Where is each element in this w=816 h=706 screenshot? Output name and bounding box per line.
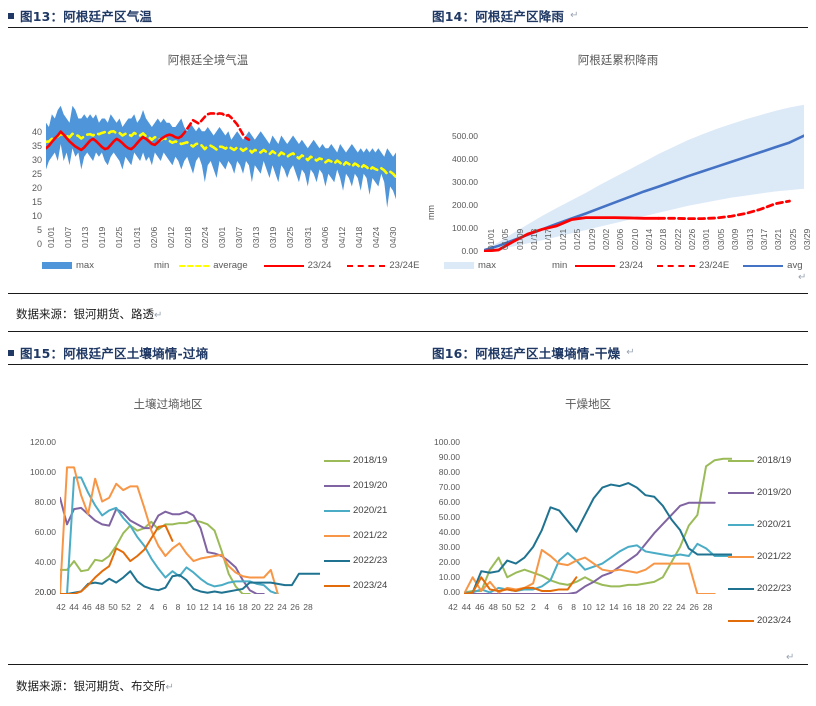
x-tick: 02/02 bbox=[601, 229, 611, 250]
x-tick: 03/19 bbox=[268, 227, 278, 248]
x-tick: 2 bbox=[132, 602, 146, 612]
x-tick: 01/19 bbox=[97, 227, 107, 248]
legend-item-2021: 2021/22 bbox=[728, 551, 791, 562]
legend-label: 2021/22 bbox=[353, 530, 387, 541]
y-tick: 25 bbox=[16, 170, 42, 179]
legend-swatch-2324e-icon bbox=[657, 265, 695, 267]
legend-label: 2022/23 bbox=[353, 555, 387, 566]
x-tick: 03/07 bbox=[234, 227, 244, 248]
x-tick: 03/09 bbox=[730, 229, 740, 250]
legend-swatch-max-icon bbox=[42, 262, 72, 269]
y-tick: 0.00 bbox=[412, 588, 460, 597]
x-tick: 6 bbox=[553, 602, 567, 612]
legend-label: 23/24 bbox=[308, 260, 332, 271]
legend-swatch-average-icon bbox=[179, 265, 209, 267]
y-tick: 0.00 bbox=[434, 247, 478, 256]
x-tick: 03/13 bbox=[251, 227, 261, 248]
legend-item-2018: 2018/19 bbox=[728, 455, 791, 466]
y-tick: 20.00 bbox=[412, 558, 460, 567]
x-tick: 52 bbox=[119, 602, 133, 612]
x-tick: 22 bbox=[660, 602, 674, 612]
x-tick: 18 bbox=[236, 602, 250, 612]
legend-item-max: max bbox=[42, 260, 94, 271]
section-header-fig14: 图14：阿根廷产区降雨 ↵ bbox=[432, 6, 579, 25]
legend-label: avg bbox=[787, 260, 802, 271]
legend-swatch-2022-icon bbox=[324, 560, 350, 562]
fig13-plot-area bbox=[46, 76, 396, 246]
report-page: 图13：阿根廷产区气温 图14：阿根廷产区降雨 ↵ 阿根廷全境气温 40 35 … bbox=[0, 0, 816, 706]
legend-label: max bbox=[76, 260, 94, 271]
legend-label: 2023/24 bbox=[757, 615, 791, 626]
x-tick: 03/05 bbox=[716, 229, 726, 250]
legend-swatch-2324e-icon bbox=[347, 265, 385, 267]
legend-swatch-2324-icon bbox=[575, 265, 615, 267]
x-tick: 01/01 bbox=[486, 229, 496, 250]
x-tick: 02/22 bbox=[673, 229, 683, 250]
legend-item-2324: 23/24 bbox=[575, 260, 643, 271]
legend-item-2022: 2022/23 bbox=[728, 583, 791, 594]
fig15-title: 图15：阿根廷产区土壤墒情-过墒 bbox=[20, 343, 208, 362]
x-tick: 02/06 bbox=[149, 227, 159, 248]
paragraph-mark: ↵ bbox=[786, 652, 794, 663]
x-tick: 24 bbox=[674, 602, 688, 612]
y-tick: 70.00 bbox=[412, 483, 460, 492]
x-tick: 4 bbox=[540, 602, 554, 612]
legend-item-2023: 2023/24 bbox=[728, 615, 791, 626]
legend-item-2018: 2018/19 bbox=[324, 455, 387, 466]
legend-item-avg: avg bbox=[743, 260, 802, 271]
legend-label: 2018/19 bbox=[353, 455, 387, 466]
bullet-icon bbox=[8, 13, 14, 19]
y-tick: 500.00 bbox=[434, 132, 478, 141]
x-tick: 2 bbox=[526, 602, 540, 612]
legend-item-2324e: 23/24E bbox=[347, 260, 419, 271]
legend-label: 2022/23 bbox=[757, 583, 791, 594]
x-tick: 04/18 bbox=[354, 227, 364, 248]
x-tick: 03/17 bbox=[759, 229, 769, 250]
legend-item-2021: 2021/22 bbox=[324, 530, 387, 541]
x-tick: 01/31 bbox=[132, 227, 142, 248]
x-tick: 52 bbox=[513, 602, 527, 612]
x-tick: 02/24 bbox=[200, 227, 210, 248]
fig15-svg bbox=[60, 442, 320, 594]
y-tick: 35 bbox=[16, 142, 42, 151]
y-tick: 80.00 bbox=[8, 498, 56, 507]
section-header-fig16: 图16：阿根廷产区土壤墒情-干燥 ↵ bbox=[432, 343, 635, 362]
y-tick: 20 bbox=[16, 184, 42, 193]
x-tick: 02/18 bbox=[183, 227, 193, 248]
legend-swatch-max-icon bbox=[444, 262, 474, 269]
legend-swatch-2022-icon bbox=[728, 588, 754, 590]
legend-label: 23/24E bbox=[389, 260, 419, 271]
legend-item-2019: 2019/20 bbox=[728, 487, 791, 498]
x-tick: 12 bbox=[593, 602, 607, 612]
legend-swatch-avg-icon bbox=[743, 265, 783, 267]
y-tick: 80.00 bbox=[412, 468, 460, 477]
x-tick: 02/18 bbox=[658, 229, 668, 250]
x-tick: 20 bbox=[249, 602, 263, 612]
x-tick: 01/13 bbox=[529, 229, 539, 250]
x-tick: 01/17 bbox=[543, 229, 553, 250]
legend-item-2020: 2020/21 bbox=[728, 519, 791, 530]
y-tick: 0 bbox=[16, 240, 42, 249]
y-tick: 90.00 bbox=[412, 453, 460, 462]
legend-item-min: min bbox=[154, 260, 169, 271]
divider-top bbox=[8, 27, 808, 28]
x-tick: 42 bbox=[54, 602, 68, 612]
x-tick: 01/01 bbox=[46, 227, 56, 248]
y-tick: 0.00 bbox=[8, 588, 56, 597]
x-tick: 12 bbox=[197, 602, 211, 612]
x-tick: 01/05 bbox=[500, 229, 510, 250]
x-tick: 02/06 bbox=[615, 229, 625, 250]
legend-item-2020: 2020/21 bbox=[324, 505, 387, 516]
y-tick: 40 bbox=[16, 128, 42, 137]
x-tick: 46 bbox=[473, 602, 487, 612]
x-tick: 03/25 bbox=[285, 227, 295, 248]
x-tick: 18 bbox=[634, 602, 648, 612]
y-tick: 30 bbox=[16, 156, 42, 165]
x-tick: 24 bbox=[275, 602, 289, 612]
paragraph-mark: ↵ bbox=[154, 310, 162, 321]
fig15-chart-title: 土壤过墒地区 bbox=[0, 396, 368, 412]
legend-label: average bbox=[213, 260, 247, 271]
x-tick: 01/13 bbox=[80, 227, 90, 248]
x-tick: 03/01 bbox=[217, 227, 227, 248]
legend-label: 23/24E bbox=[699, 260, 729, 271]
divider-mid-top bbox=[8, 293, 808, 294]
fig13-legend: max min average 23/24 23/24E bbox=[42, 260, 420, 271]
y-tick: 10.00 bbox=[412, 573, 460, 582]
y-tick: 120.00 bbox=[8, 438, 56, 447]
x-tick: 03/13 bbox=[745, 229, 755, 250]
paragraph-mark: ↵ bbox=[166, 682, 174, 693]
x-tick: 10 bbox=[184, 602, 198, 612]
source-text: 数据来源：银河期货、路透 bbox=[16, 307, 154, 321]
y-tick: 30.00 bbox=[412, 543, 460, 552]
fig13-svg bbox=[46, 76, 396, 246]
x-tick: 03/29 bbox=[802, 229, 812, 250]
x-tick: 28 bbox=[701, 602, 715, 612]
y-tick: 60.00 bbox=[8, 528, 56, 537]
source-bottom: 数据来源：银河期货、布交所↵ bbox=[16, 678, 174, 694]
legend-label: 2019/20 bbox=[757, 487, 791, 498]
y-tick: 100.00 bbox=[434, 224, 478, 233]
legend-item-2324e: 23/24E bbox=[657, 260, 729, 271]
paragraph-mark: ↵ bbox=[570, 10, 578, 21]
legend-swatch-2019-icon bbox=[728, 492, 754, 494]
legend-label: min bbox=[552, 260, 567, 271]
legend-item-2023: 2023/24 bbox=[324, 580, 387, 591]
legend-label: 2018/19 bbox=[757, 455, 791, 466]
legend-swatch-2018-icon bbox=[324, 460, 350, 462]
fig14-title: 图14：阿根廷产区降雨 bbox=[432, 6, 564, 25]
x-tick: 14 bbox=[607, 602, 621, 612]
x-tick: 02/10 bbox=[630, 229, 640, 250]
source-text: 数据来源：银河期货、布交所 bbox=[16, 679, 166, 693]
legend-label: 2020/21 bbox=[757, 519, 791, 530]
legend-swatch-2021-icon bbox=[324, 535, 350, 537]
fig13-title: 图13：阿根廷产区气温 bbox=[20, 6, 152, 25]
x-tick: 6 bbox=[158, 602, 172, 612]
source-top: 数据来源：银河期货、路透↵ bbox=[16, 306, 162, 322]
divider-mid-bottom bbox=[8, 331, 808, 332]
x-tick: 50 bbox=[106, 602, 120, 612]
x-tick: 01/25 bbox=[114, 227, 124, 248]
x-tick: 04/24 bbox=[371, 227, 381, 248]
legend-swatch-2020-icon bbox=[324, 510, 350, 512]
x-tick: 26 bbox=[288, 602, 302, 612]
x-tick: 8 bbox=[171, 602, 185, 612]
x-tick: 04/30 bbox=[388, 227, 398, 248]
x-tick: 22 bbox=[262, 602, 276, 612]
legend-swatch-2023-icon bbox=[324, 585, 350, 587]
x-tick: 03/01 bbox=[701, 229, 711, 250]
fig16-chart-title: 干燥地区 bbox=[390, 396, 786, 412]
y-tick: 5 bbox=[16, 226, 42, 235]
section-header-fig13: 图13：阿根廷产区气温 bbox=[8, 6, 152, 25]
legend-item-2324: 23/24 bbox=[264, 260, 332, 271]
x-tick: 48 bbox=[486, 602, 500, 612]
fig14-plot-area bbox=[484, 80, 804, 252]
fig16-svg bbox=[464, 442, 732, 594]
x-tick: 01/25 bbox=[572, 229, 582, 250]
legend-swatch-2019-icon bbox=[324, 485, 350, 487]
divider-fig15 bbox=[8, 364, 808, 365]
x-tick: 10 bbox=[580, 602, 594, 612]
x-tick: 20 bbox=[647, 602, 661, 612]
fig14-legend: max min 23/24 23/24E avg bbox=[444, 260, 803, 271]
y-tick: 40.00 bbox=[8, 558, 56, 567]
y-tick: 40.00 bbox=[412, 528, 460, 537]
x-tick: 50 bbox=[500, 602, 514, 612]
y-tick: 100.00 bbox=[8, 468, 56, 477]
x-tick: 16 bbox=[620, 602, 634, 612]
legend-label: 2019/20 bbox=[353, 480, 387, 491]
legend-item-average: average bbox=[179, 260, 247, 271]
fig16-title: 图16：阿根廷产区土壤墒情-干燥 bbox=[432, 343, 620, 362]
x-tick: 03/21 bbox=[773, 229, 783, 250]
legend-label: 2021/22 bbox=[757, 551, 791, 562]
x-tick: 01/07 bbox=[63, 227, 73, 248]
x-tick: 42 bbox=[446, 602, 460, 612]
legend-swatch-2021-icon bbox=[728, 556, 754, 558]
y-tick: 300.00 bbox=[434, 178, 478, 187]
paragraph-mark: ↵ bbox=[626, 347, 634, 358]
y-tick: 400.00 bbox=[434, 155, 478, 164]
x-tick: 01/29 bbox=[587, 229, 597, 250]
x-tick: 02/12 bbox=[166, 227, 176, 248]
x-tick: 48 bbox=[93, 602, 107, 612]
fig16-plot-area bbox=[464, 442, 732, 594]
legend-label: 23/24 bbox=[619, 260, 643, 271]
x-tick: 04/06 bbox=[320, 227, 330, 248]
legend-item-2019: 2019/20 bbox=[324, 480, 387, 491]
x-tick: 8 bbox=[567, 602, 581, 612]
paragraph-mark: ↵ bbox=[798, 272, 806, 283]
x-tick: 02/26 bbox=[687, 229, 697, 250]
legend-label: min bbox=[154, 260, 169, 271]
legend-item-max: max bbox=[444, 260, 496, 271]
legend-swatch-2324-icon bbox=[264, 265, 304, 267]
legend-swatch-2023-icon bbox=[728, 620, 754, 622]
fig14-chart-title: 阿根廷累积降雨 bbox=[420, 52, 816, 68]
divider-bottom-top bbox=[8, 664, 808, 665]
x-tick: 44 bbox=[459, 602, 473, 612]
legend-swatch-2020-icon bbox=[728, 524, 754, 526]
legend-label: max bbox=[478, 260, 496, 271]
legend-swatch-2018-icon bbox=[728, 460, 754, 462]
x-tick: 4 bbox=[145, 602, 159, 612]
x-tick: 03/31 bbox=[303, 227, 313, 248]
y-tick: 60.00 bbox=[412, 498, 460, 507]
y-tick: 100.00 bbox=[412, 438, 460, 447]
fig13-chart-title: 阿根廷全境气温 bbox=[8, 52, 408, 68]
y-tick: 200.00 bbox=[434, 201, 478, 210]
x-tick: 14 bbox=[210, 602, 224, 612]
fig14-svg bbox=[484, 80, 804, 252]
x-tick: 16 bbox=[223, 602, 237, 612]
bullet-icon bbox=[8, 350, 14, 356]
x-tick: 01/09 bbox=[515, 229, 525, 250]
x-tick: 46 bbox=[80, 602, 94, 612]
x-tick: 04/12 bbox=[337, 227, 347, 248]
y-tick: 15 bbox=[16, 198, 42, 207]
y-tick: 50.00 bbox=[412, 513, 460, 522]
legend-item-2022: 2022/23 bbox=[324, 555, 387, 566]
fig15-plot-area bbox=[60, 442, 320, 594]
legend-label: 2020/21 bbox=[353, 505, 387, 516]
x-tick: 26 bbox=[687, 602, 701, 612]
y-tick: 10 bbox=[16, 212, 42, 221]
legend-label: 2023/24 bbox=[353, 580, 387, 591]
x-tick: 44 bbox=[67, 602, 81, 612]
x-tick: 03/25 bbox=[788, 229, 798, 250]
legend-item-min: min bbox=[552, 260, 567, 271]
section-header-fig15: 图15：阿根廷产区土壤墒情-过墒 bbox=[8, 343, 208, 362]
x-tick: 01/21 bbox=[558, 229, 568, 250]
x-tick: 02/14 bbox=[644, 229, 654, 250]
x-tick: 28 bbox=[301, 602, 315, 612]
